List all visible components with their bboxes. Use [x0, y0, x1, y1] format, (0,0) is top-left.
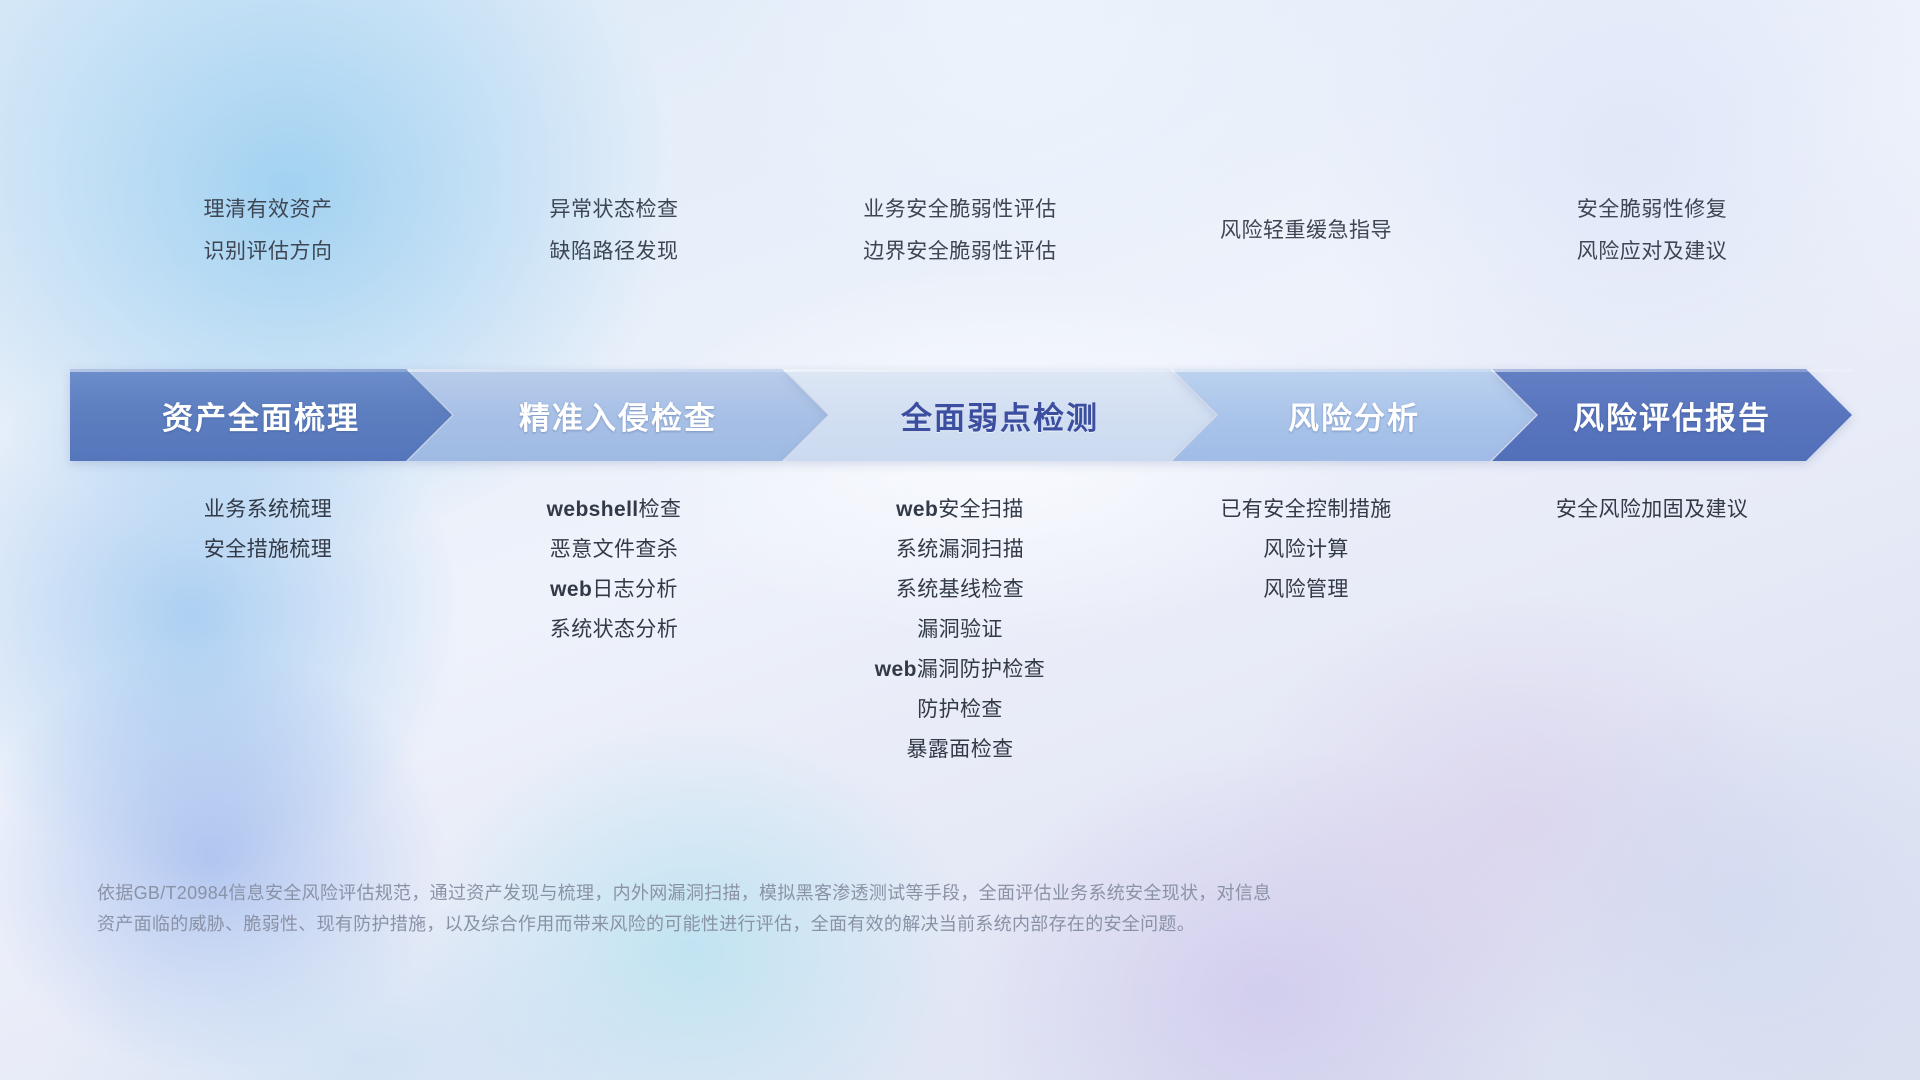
footer-line-2: 资产面临的威胁、脆弱性、现有防护措施，以及综合作用而带来风险的可能性进行评估，全…	[97, 909, 1597, 940]
list-item-latin: web	[875, 658, 917, 681]
list-item: 风险计算	[1263, 530, 1349, 570]
chevron-gloss-1	[70, 369, 452, 372]
list-item-label: 漏洞验证	[917, 618, 1003, 641]
list-item-label: 风险计算	[1263, 538, 1349, 561]
list-item-label: 风险管理	[1263, 578, 1349, 601]
list-item-label: 系统漏洞扫描	[896, 538, 1024, 561]
list-item: 安全风险加固及建议	[1556, 490, 1749, 530]
detail-list-intrusion-check: webshell检查恶意文件查杀web日志分析系统状态分析	[441, 490, 787, 650]
chevron-gloss-2	[408, 369, 828, 372]
chevron-gloss-3	[784, 369, 1216, 372]
spacer-d	[1479, 216, 1825, 246]
list-item: 暴露面检查	[907, 730, 1014, 770]
stage-detail-lists: 业务系统梳理安全措施梳理webshell检查恶意文件查杀web日志分析系统状态分…	[95, 490, 1825, 770]
detail-list-risk-analysis: 已有安全控制措施风险计算风险管理	[1133, 490, 1479, 610]
list-item-label: 业务系统梳理	[204, 498, 332, 521]
list-item-label: 安全扫描	[938, 498, 1024, 521]
process-diagram: 理清有效资产 异常状态检查 业务安全脆弱性评估 安全脆弱性修复 识别评估方向 缺…	[0, 0, 1920, 1080]
list-item: 安全措施梳理	[204, 530, 332, 570]
list-item-latin: web	[550, 578, 592, 601]
spacer-c	[787, 216, 1133, 246]
list-item-label: 暴露面检查	[907, 738, 1014, 761]
list-item-label: 系统状态分析	[550, 618, 678, 641]
list-item-label: 已有安全控制措施	[1220, 498, 1391, 521]
list-item-label: 安全风险加固及建议	[1556, 498, 1749, 521]
list-item-label: 检查	[639, 498, 682, 521]
list-item: 系统状态分析	[550, 610, 678, 650]
list-item: 恶意文件查杀	[550, 530, 678, 570]
stage-chevron-risk-analysis[interactable]: 风险分析	[1172, 369, 1536, 461]
stage-chevron-risk-report[interactable]: 风险评估报告	[1492, 369, 1852, 461]
list-item-label: 漏洞防护检查	[917, 658, 1045, 681]
top-descriptor-stage-4-line-1: 风险轻重缓急指导	[1133, 216, 1479, 246]
stage-title-1: 资产全面梳理	[70, 393, 452, 438]
detail-list-risk-report: 安全风险加固及建议	[1479, 490, 1825, 530]
list-item: 已有安全控制措施	[1220, 490, 1391, 530]
chevron-gloss-4	[1172, 369, 1536, 372]
top-descriptor-row-center: 风险轻重缓急指导	[95, 216, 1825, 246]
list-item-latin: web	[896, 498, 938, 521]
detail-list-asset-inventory: 业务系统梳理安全措施梳理	[95, 490, 441, 570]
list-item: web安全扫描	[896, 490, 1024, 530]
list-item-label: 安全措施梳理	[204, 538, 332, 561]
stage-chevron-intrusion-check[interactable]: 精准入侵检查	[408, 369, 828, 461]
list-item-label: 恶意文件查杀	[550, 538, 678, 561]
stage-chevron-band: 资产全面梳理 精准入侵检查 全面弱点检测 风险分析	[70, 369, 1852, 461]
list-item: webshell检查	[547, 490, 682, 530]
stage-chevron-weakness-detection[interactable]: 全面弱点检测	[784, 369, 1216, 461]
list-item: 系统漏洞扫描	[896, 530, 1024, 570]
stage-title-3: 全面弱点检测	[784, 393, 1216, 438]
list-item: 风险管理	[1263, 570, 1349, 610]
list-item-label: 防护检查	[917, 698, 1003, 721]
list-item: 漏洞验证	[917, 610, 1003, 650]
list-item: 防护检查	[917, 690, 1003, 730]
footer-line-1: 依据GB/T20984信息安全风险评估规范，通过资产发现与梳理，内外网漏洞扫描，…	[97, 878, 1597, 909]
stage-title-4: 风险分析	[1172, 393, 1536, 438]
detail-list-weakness-detection: web安全扫描系统漏洞扫描系统基线检查漏洞验证web漏洞防护检查防护检查暴露面检…	[787, 490, 1133, 770]
footer-description: 依据GB/T20984信息安全风险评估规范，通过资产发现与梳理，内外网漏洞扫描，…	[97, 878, 1597, 940]
list-item: web日志分析	[550, 570, 678, 610]
spacer-a	[95, 216, 441, 246]
stage-title-2: 精准入侵检查	[408, 393, 828, 438]
list-item-latin: webshell	[547, 498, 639, 521]
spacer-b	[441, 216, 787, 246]
list-item-label: 日志分析	[592, 578, 678, 601]
list-item-label: 系统基线检查	[896, 578, 1024, 601]
list-item: 系统基线检查	[896, 570, 1024, 610]
list-item: 业务系统梳理	[204, 490, 332, 530]
stage-title-5: 风险评估报告	[1492, 393, 1852, 438]
stage-chevron-asset-inventory[interactable]: 资产全面梳理	[70, 369, 452, 461]
list-item: web漏洞防护检查	[875, 650, 1045, 690]
chevron-gloss-5	[1492, 369, 1852, 372]
